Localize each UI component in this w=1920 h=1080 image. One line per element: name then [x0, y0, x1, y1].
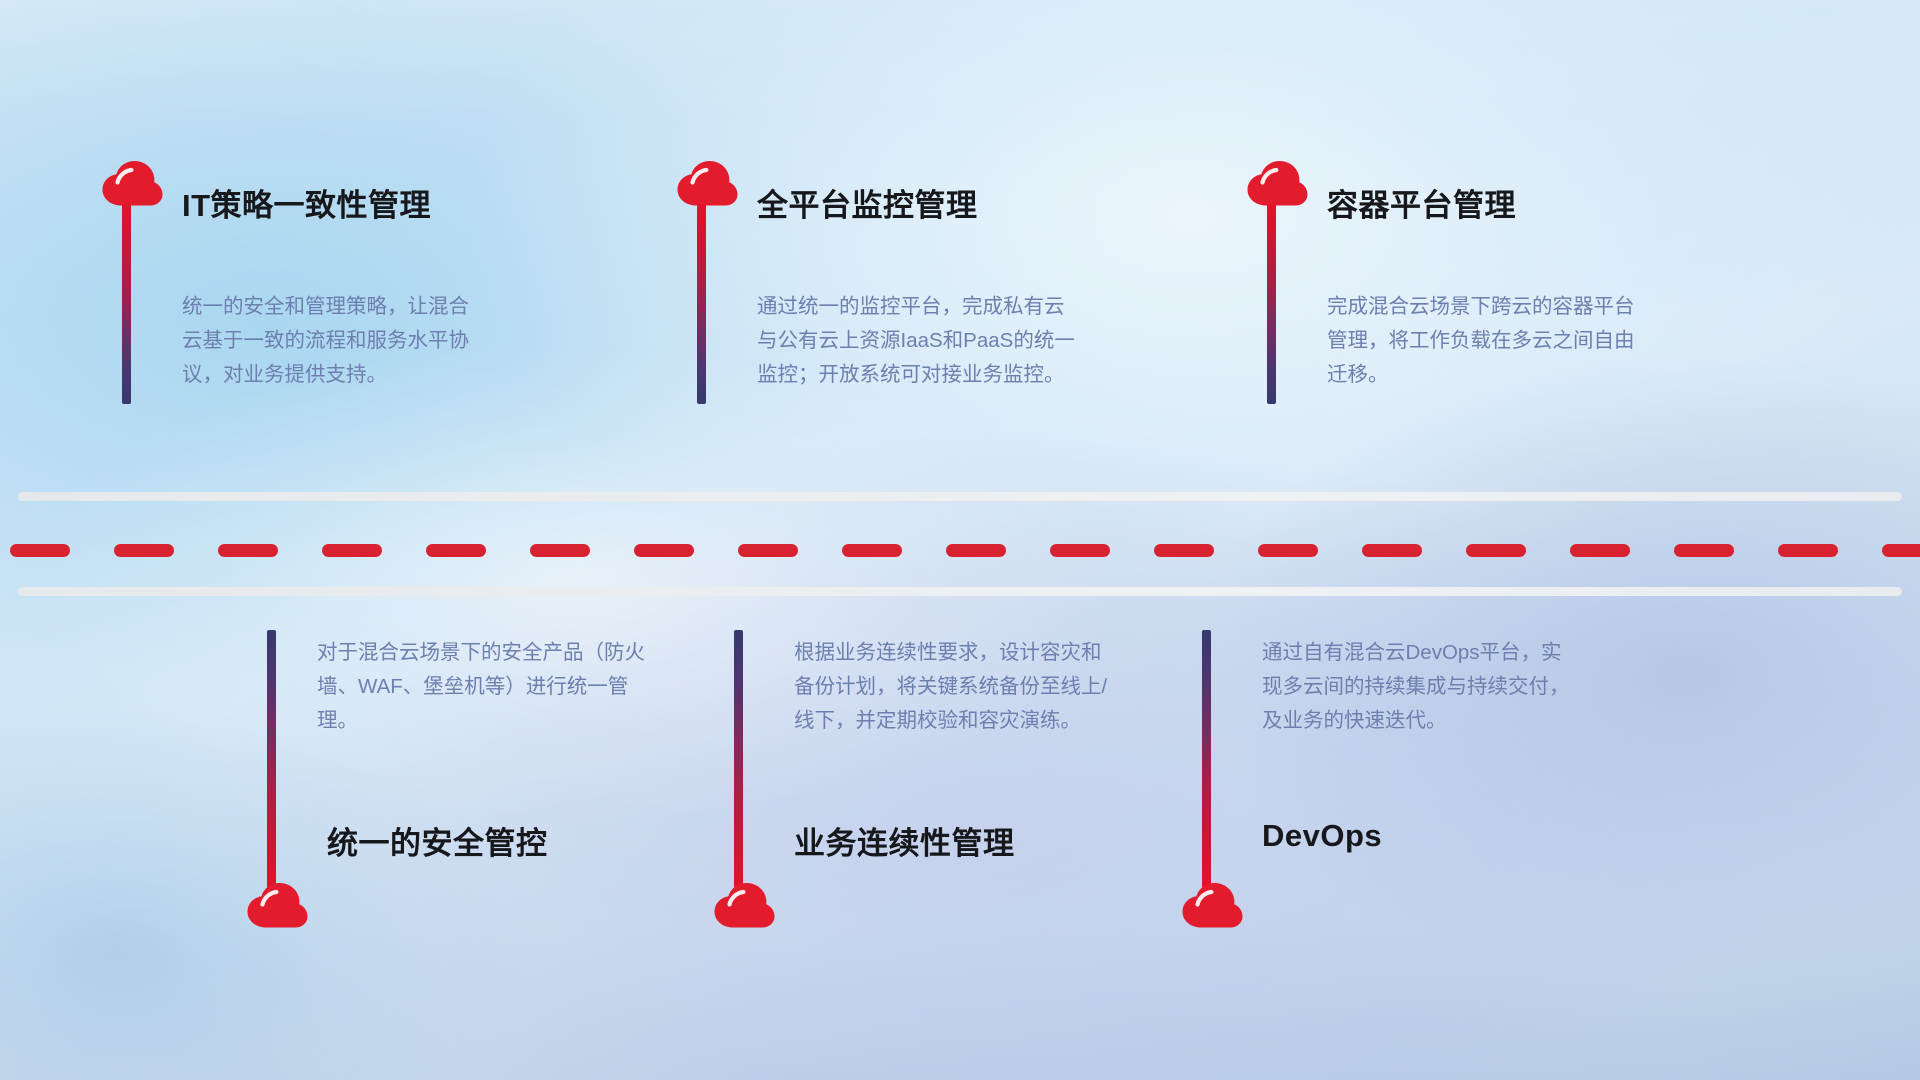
- dash-segment: [426, 544, 486, 557]
- card-body: 通过自有混合云DevOps平台，实现多云间的持续集成与持续交付，及业务的快速迭代…: [1262, 636, 1574, 738]
- cloud-icon: [712, 882, 776, 930]
- card-title: 业务连续性管理: [794, 818, 1015, 863]
- dash-segment: [1154, 544, 1214, 557]
- divider-bar-top: [18, 492, 1902, 501]
- dash-segment: [842, 544, 902, 557]
- cloud-icon: [675, 160, 739, 208]
- dash-segment: [1258, 544, 1318, 557]
- stem-line: [734, 630, 743, 888]
- infographic-canvas: IT策略一致性管理 统一的安全和管理策略，让混合云基于一致的流程和服务水平协议，…: [0, 0, 1920, 1080]
- cloud-icon: [1180, 882, 1244, 930]
- cloud-icon: [1245, 160, 1309, 208]
- dash-segment: [1362, 544, 1422, 557]
- card-body: 完成混合云场景下跨云的容器平台管理，将工作负载在多云之间自由迁移。: [1327, 290, 1639, 392]
- card-title: 统一的安全管控: [327, 818, 548, 863]
- dash-segment: [322, 544, 382, 557]
- dash-segment: [1570, 544, 1630, 557]
- card-body: 通过统一的监控平台，完成私有云与公有云上资源IaaS和PaaS的统一监控；开放系…: [757, 290, 1075, 392]
- divider-bar-bottom: [18, 587, 1902, 596]
- cloud-icon: [245, 882, 309, 930]
- stem-line: [1202, 630, 1211, 888]
- cloud-icon: [100, 160, 164, 208]
- card-title: 全平台监控管理: [757, 180, 978, 225]
- dash-segment: [1778, 544, 1838, 557]
- dashed-divider: [0, 544, 1920, 557]
- stem-line: [267, 630, 276, 888]
- stem-line: [1267, 204, 1276, 404]
- card-body: 对于混合云场景下的安全产品（防火墙、WAF、堡垒机等）进行统一管理。: [317, 636, 647, 738]
- dash-segment: [10, 544, 70, 557]
- card-title: IT策略一致性管理: [182, 180, 431, 225]
- dash-segment: [114, 544, 174, 557]
- card-body: 统一的安全和管理策略，让混合云基于一致的流程和服务水平协议，对业务提供支持。: [182, 290, 487, 392]
- card-body: 根据业务连续性要求，设计容灾和备份计划，将关键系统备份至线上/线下，并定期校验和…: [794, 636, 1116, 738]
- dash-segment: [1674, 544, 1734, 557]
- dash-segment: [530, 544, 590, 557]
- dash-segment: [738, 544, 798, 557]
- dash-segment: [946, 544, 1006, 557]
- card-title: 容器平台管理: [1327, 180, 1516, 225]
- dash-segment: [634, 544, 694, 557]
- dash-segment: [1882, 544, 1920, 557]
- stem-line: [697, 204, 706, 404]
- dash-segment: [1466, 544, 1526, 557]
- dash-segment: [218, 544, 278, 557]
- stem-line: [122, 204, 131, 404]
- dash-segment: [1050, 544, 1110, 557]
- card-title: DevOps: [1262, 818, 1382, 854]
